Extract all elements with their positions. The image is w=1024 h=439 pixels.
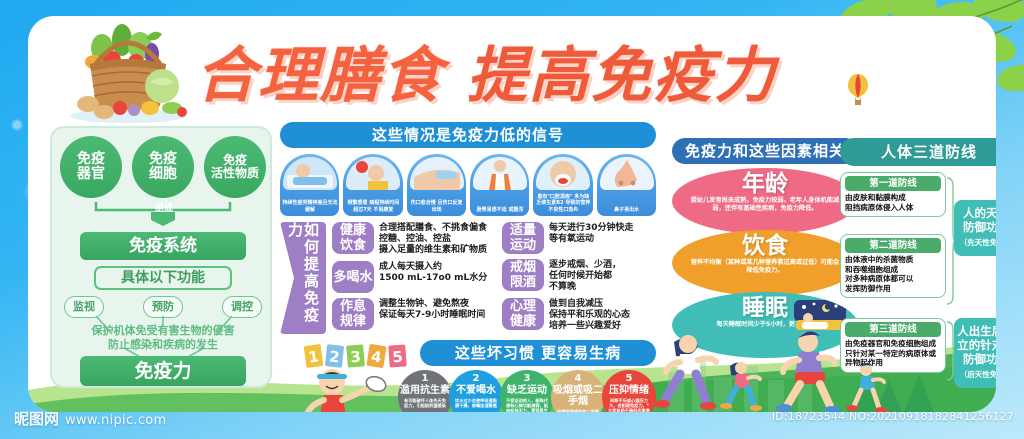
factor-head: 饮食 <box>672 230 858 259</box>
boost-tag-drink-water: 多喝水 <box>332 261 374 293</box>
factor-desc: 婴幼儿发育尚未成熟，免疫力较弱。老年人身体机能减弱，还伴有基础性疾病，免疫力降低… <box>672 197 858 213</box>
component-label-top: 免疫 <box>77 152 105 167</box>
boost-desc: 调整生物钟、避免熬夜 保证每天7-9小时睡眠时间 <box>379 298 485 321</box>
boost-desc: 成人每天摄入约 1500 mL-17o0 mL水分 <box>379 261 487 284</box>
signal-caption: 鼻子易出水 <box>599 207 655 214</box>
title-part-1: 合理膳食 <box>196 41 444 111</box>
tag-line-2: 健康 <box>510 314 536 329</box>
signal-card: 持续性疲劳精神差且无法缓解 <box>280 154 339 216</box>
defense-summary-innate: 人的天然 防御功能 （先天性免疫） <box>954 200 996 256</box>
tag-line-2: 规律 <box>340 314 366 329</box>
boost-column-2: 适量 运动 每天进行30分钟快走 等有氧运动 戒烟 限酒 逐步戒烟、少酒， 任何… <box>502 222 668 337</box>
tag-line-2: 饮食 <box>340 238 366 253</box>
defense-title: 人体三道防线 <box>840 138 996 166</box>
function-regulate: 调控 <box>222 296 262 318</box>
boost-arrow-label: 如何提高免疫力 <box>280 222 326 334</box>
boost-row: 作息 规律 调整生物钟、避免熬夜 保证每天7-9小时睡眠时间 <box>332 298 498 330</box>
tag-line-2: 限酒 <box>510 275 536 290</box>
function-description-line2: 防止感染和疾病的发生 <box>64 338 262 352</box>
watermark-brand: 昵图网 www.nipic.com <box>14 408 167 429</box>
tag-line-1: 多喝水 <box>333 270 372 285</box>
signal-card: 鼻子易出水 <box>597 154 656 216</box>
summary-sub: （先天性免疫） <box>957 236 996 250</box>
factor-desc: 营养不均衡（某种或某几种营养素过高或过低）可能会降低免疫力。 <box>672 259 858 275</box>
headache-icon <box>346 157 400 190</box>
wound-icon <box>410 157 464 190</box>
habit-desc: 不爱运动的人，新陈代谢和心肺功能减弱，肌肉松弛无力，更容易生病 <box>500 398 554 412</box>
boost-desc: 合理搭配膳食、不挑食偏食 控糖、控油、控盐 摄入足量的维生素和矿物质 <box>379 222 487 256</box>
tag-line-1: 作息 <box>340 299 366 314</box>
boost-immunity-block: 如何提高免疫力 健康 饮食 合理搭配膳食、不挑食偏食 控糖、控油、控盐 摄入足量… <box>280 222 656 334</box>
immune-system-bar: 免疫系统 <box>80 232 246 260</box>
habits-title-wrap: 这些坏习惯 更容易生病 <box>420 340 656 366</box>
tag-line-1: 戒烟 <box>510 260 536 275</box>
defense-summary-adaptive: 人出生后建 立的针对性 防御功能 （后天性免疫） <box>954 318 996 388</box>
boost-desc: 每天进行30分钟快走 等有氧运动 <box>549 222 634 245</box>
tag-line-1: 心理 <box>510 299 536 314</box>
sick-in-bed-icon <box>283 157 337 190</box>
habit-desc: 有可能破坏人体先天免疫力，引起耐药菌感染 <box>398 398 452 408</box>
immune-system-panel: 免疫 器官 免疫 细胞 免疫 活性物质 组成 免疫系统 具体以下功能 <box>50 126 272 388</box>
habit-number: 1 <box>398 374 452 384</box>
boost-column-1: 健康 饮食 合理搭配膳食、不挑食偏食 控糖、控油、控盐 摄入足量的维生素和矿物质… <box>332 222 498 335</box>
signal-card: 伤口愈合慢 且伤口反复出现 <box>407 154 466 216</box>
middle-column: 这些情况是免疫力低的信号 持续性疲劳精神差且无法缓解 频繁感冒 病程持续时间超过… <box>280 122 656 412</box>
boost-tag-healthy-diet: 健康 饮食 <box>332 222 374 254</box>
signal-card: 频繁感冒 病程持续时间超过7天 不易康复 <box>343 154 402 216</box>
brand-site: www.nipic.com <box>65 413 167 428</box>
boost-tag-quit-smoking: 戒烟 限酒 <box>502 259 544 291</box>
defense-line-2: 第二道防线 由体液中的杀菌物质 和吞噬细胞组成 对多种病原体都可以 发挥防御作用 <box>840 234 946 298</box>
habit-name: 不爱喝水 <box>449 385 503 396</box>
poster-card: 合理膳食 提高免疫力 免疫 器官 免疫 细胞 免疫 活 <box>28 16 996 412</box>
boost-tag-moderate-exercise: 适量 运动 <box>502 222 544 254</box>
stomach-icon <box>473 157 527 190</box>
immune-component-active-substance: 免疫 活性物质 <box>204 136 266 198</box>
signal-caption: 肠胃易感不适 或腹泻 <box>472 207 528 214</box>
habit-desc: 饮水过少会使呼吸道黏膜干燥，病毒加速繁殖 <box>449 398 503 408</box>
defense-line-desc: 由皮肤和黏膜构成 阻挡病原体侵入人体 <box>845 193 941 212</box>
signal-caption: 持续性疲劳精神差且无法缓解 <box>282 200 338 213</box>
signals-row: 持续性疲劳精神差且无法缓解 频繁感冒 病程持续时间超过7天 不易康复 伤口愈合慢… <box>280 154 656 216</box>
summary-title: 人的天然 防御功能 <box>957 206 996 234</box>
habit-circle-no-water: 2 不爱喝水 饮水过少会使呼吸道黏膜干燥，病毒加速繁殖 <box>449 370 503 412</box>
summary-title: 人出生后建 立的针对性 防御功能 <box>957 324 996 366</box>
immune-components-row: 免疫 器官 免疫 细胞 免疫 活性物质 <box>60 136 266 198</box>
signal-caption: 伤口愈合慢 且伤口反复出现 <box>409 200 465 213</box>
component-label-bottom: 器官 <box>77 167 105 182</box>
boost-row: 戒烟 限酒 逐步戒烟、少酒， 任何时候开始都 不算晚 <box>502 259 668 293</box>
title-part-2: 提高免疫力 <box>467 41 777 111</box>
boost-desc: 做到自我减压 保持平和乐观的心态 培养一些兴趣爱好 <box>549 298 630 332</box>
habit-circle-no-exercise: 3 缺乏运动 不爱运动的人，新陈代谢和心肺功能减弱，肌肉松弛无力，更容易生病 <box>500 370 554 412</box>
nose-icon <box>600 157 654 190</box>
habit-number: 3 <box>500 374 554 384</box>
boost-row: 多喝水 成人每天摄入约 1500 mL-17o0 mL水分 <box>332 261 498 293</box>
mouth-ulcer-icon <box>536 157 590 190</box>
boost-tag-mental-health: 心理 健康 <box>502 298 544 330</box>
factor-diet: 饮食 营养不均衡（某种或某几种营养素过高或过低）可能会降低免疫力。 <box>672 230 858 296</box>
habit-desc: 经常吸烟或处在二手烟环境，会破坏免疫细胞活性。 <box>551 409 605 412</box>
habit-name: 吸烟或吸二手烟 <box>551 385 605 407</box>
function-monitor: 监视 <box>64 296 104 318</box>
signal-caption: 患有"口腔溃疡" 多为缺乏维生素B2 导致的营养不良性口角炎 <box>535 194 591 214</box>
signal-card: 肠胃易感不适 或腹泻 <box>470 154 529 216</box>
habit-number: 2 <box>449 374 503 384</box>
functions-header: 具体以下功能 <box>94 266 232 290</box>
habit-number: 4 <box>551 374 605 384</box>
habits-row: 1 滥用抗生素 有可能破坏人体先天免疫力，引起耐药菌感染 2 不爱喝水 饮水过少… <box>398 370 656 412</box>
habit-circle-antibiotics: 1 滥用抗生素 有可能破坏人体先天免疫力，引起耐药菌感染 <box>398 370 452 412</box>
watermark-id: ID:18723544 NO:20210918182841256127 <box>772 410 1014 423</box>
summary-sub: （后天性免疫） <box>957 368 996 382</box>
factors-panel: 免疫力和这些因素相关 年龄 婴幼儿发育尚未成熟，免疫力较弱。老年人身体机能减弱，… <box>672 138 858 348</box>
function-description-line1: 保护机体免受有害生物的侵害 <box>64 324 262 338</box>
factor-head: 年龄 <box>672 168 858 197</box>
vegetable-basket-illustration <box>50 20 200 124</box>
boost-row: 心理 健康 做到自我减压 保持平和乐观的心态 培养一些兴趣爱好 <box>502 298 668 332</box>
brand-name: 昵图网 <box>14 408 59 429</box>
signals-title: 这些情况是免疫力低的信号 <box>280 122 656 148</box>
function-prevent: 预防 <box>143 296 183 318</box>
immune-component-cell: 免疫 细胞 <box>132 136 194 198</box>
tag-line-1: 适量 <box>510 223 536 238</box>
boost-tag-regular-schedule: 作息 规律 <box>332 298 374 330</box>
signal-caption: 频繁感冒 病程持续时间超过7天 不易康复 <box>345 200 401 213</box>
habit-name: 滥用抗生素 <box>398 385 452 396</box>
immune-component-organ: 免疫 器官 <box>60 136 122 198</box>
poster-root: 合理膳食 提高免疫力 免疫 器官 免疫 细胞 免疫 活 <box>0 0 1024 439</box>
signal-card: 患有"口腔溃疡" 多为缺乏维生素B2 导致的营养不良性口角炎 <box>533 154 592 216</box>
immunity-result-bar: 免疫力 <box>80 356 246 386</box>
function-description: 保护机体免受有害生物的侵害 防止感染和疾病的发生 <box>64 324 262 352</box>
component-label-top: 免疫 <box>149 152 177 167</box>
component-label-bottom: 活性物质 <box>211 167 259 180</box>
habits-title: 这些坏习惯 更容易生病 <box>420 340 656 366</box>
boost-row: 健康 饮食 合理搭配膳食、不挑食偏食 控糖、控油、控盐 摄入足量的维生素和矿物质 <box>332 222 498 256</box>
boost-desc: 逐步戒烟、少酒， 任何时候开始都 不算晚 <box>549 259 621 293</box>
boost-row: 适量 运动 每天进行30分钟快走 等有氧运动 <box>502 222 668 254</box>
defense-line-head: 第一道防线 <box>845 176 941 191</box>
factor-age: 年龄 婴幼儿发育尚未成熟，免疫力较弱。老年人身体机能减弱，还伴有基础性疾病，免疫… <box>672 168 858 234</box>
compose-label: 组成 <box>148 204 180 214</box>
factors-title: 免疫力和这些因素相关 <box>672 138 858 164</box>
defense-line-1: 第一道防线 由皮肤和黏膜构成 阻挡病原体侵入人体 <box>840 172 946 217</box>
hot-air-balloon-icon <box>848 74 868 108</box>
functions-row: 监视 预防 调控 <box>64 296 262 318</box>
defense-line-head: 第二道防线 <box>845 238 941 253</box>
defense-line-desc: 由体液中的杀菌物质 和吞噬细胞组成 对多种病原体都可以 发挥防御作用 <box>845 255 941 293</box>
tag-line-2: 运动 <box>510 238 536 253</box>
tag-line-1: 健康 <box>340 223 366 238</box>
bokeh-dot <box>12 120 22 130</box>
running-child-illustration <box>298 354 408 412</box>
habit-name: 缺乏运动 <box>500 385 554 396</box>
habit-circle-smoking: 4 吸烟或吸二手烟 经常吸烟或处在二手烟环境，会破坏免疫细胞活性。 <box>551 370 605 412</box>
page-title: 合理膳食 提高免疫力 <box>196 38 886 114</box>
running-family-illustration <box>648 320 948 412</box>
component-label-bottom: 细胞 <box>149 167 177 182</box>
